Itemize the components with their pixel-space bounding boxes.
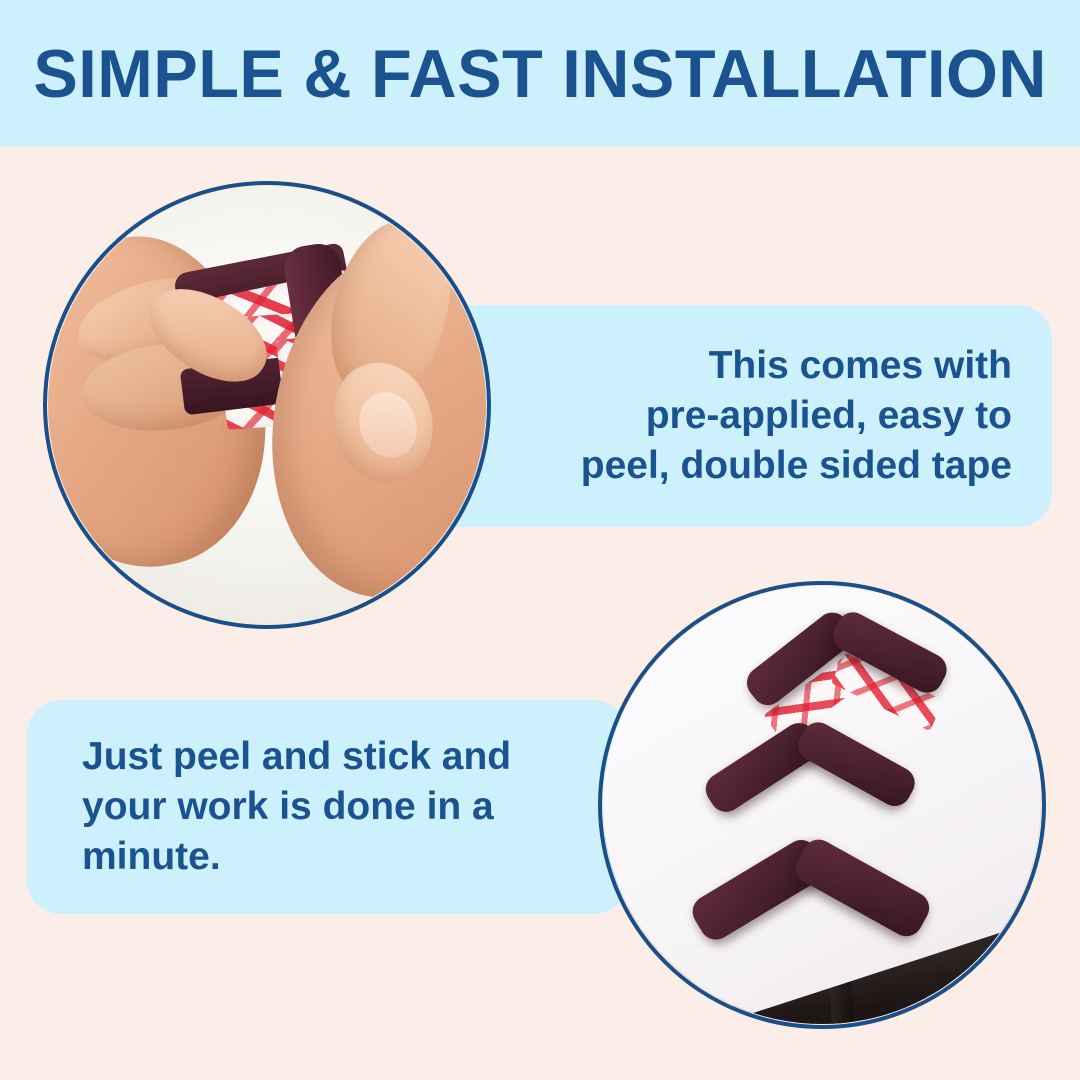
callout-peel-line-1: Just peel and stick and [82,732,511,782]
photo-installed-corner-guard [603,586,1041,1024]
corner-guard-installed [688,834,921,998]
callout-tape-line-1: This comes with [709,341,1012,391]
infographic-page: SIMPLE & FAST INSTALLATION This comes wi… [0,0,1080,1080]
guard-arm-right [793,717,921,812]
callout-peel-line-3: minute. [82,832,221,882]
page-title: SIMPLE & FAST INSTALLATION [33,40,1047,108]
guard-arm-right [790,834,935,942]
callout-peel-stick: Just peel and stick and your work is don… [27,700,627,914]
callout-peel-line-2: your work is done in a [82,782,494,832]
callout-tape: This comes with pre-applied, easy to pee… [405,305,1052,527]
callout-tape-line-2: pre-applied, easy to [646,391,1012,441]
callout-tape-line-3: peel, double sided tape [581,441,1012,491]
scene-hands [48,186,486,624]
scene-table [603,586,1041,1024]
header-band: SIMPLE & FAST INSTALLATION [0,0,1080,147]
photo-peeling-tape [48,186,486,624]
